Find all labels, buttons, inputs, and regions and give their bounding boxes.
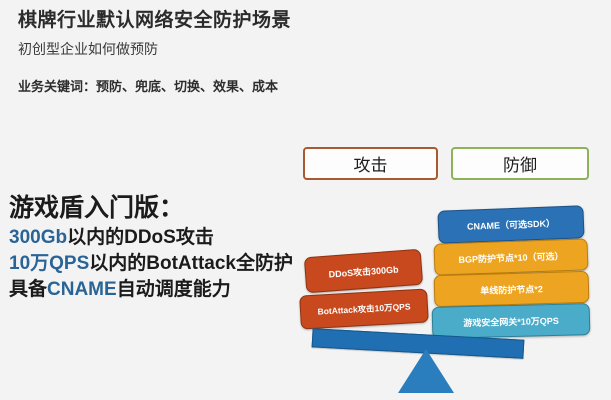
product-line-3: 具备CNAME自动调度能力 (9, 277, 309, 303)
product-line-3-metric: CNAME (47, 279, 117, 300)
header-block: 棋牌行业默认网络安全防护场景 初创型企业如何做预防 业务关键词：预防、兜底、切换… (18, 8, 448, 97)
defense-chip-bgp-node: BGP防护节点*10（可选） (433, 238, 588, 275)
defense-chip-cname: CNAME（可选SDK） (437, 205, 584, 244)
attack-chip-ddos: DDoS攻击300Gb (304, 249, 423, 293)
product-line-1-metric: 300Gb (9, 227, 67, 248)
seesaw-fulcrum-triangle (398, 349, 454, 393)
keywords-line: 业务关键词：预防、兜底、切换、效果、成本 (18, 77, 448, 97)
page-subtitle: 初创型企业如何做预防 (18, 38, 448, 60)
product-line-2-metric: 10万QPS (9, 253, 89, 274)
product-heading: 游戏盾入门版： (9, 192, 309, 225)
defense-chip-single-line-node: 单线防护节点*2 (434, 271, 590, 307)
slide-canvas: 棋牌行业默认网络安全防护场景 初创型企业如何做预防 业务关键词：预防、兜底、切换… (0, 0, 611, 400)
product-summary-block: 游戏盾入门版： 300Gb以内的DDoS攻击 10万QPS以内的BotAttac… (9, 192, 309, 303)
product-line-2-text: 以内的BotAttack全防护 (89, 253, 293, 274)
product-line-1: 300Gb以内的DDoS攻击 (9, 225, 309, 251)
balance-scale-diagram: DDoS攻击300Gb BotAttack攻击10万QPS CNAME（可选SD… (285, 195, 611, 400)
product-line-2: 10万QPS以内的BotAttack全防护 (9, 251, 309, 277)
defense-caption-box: 防御 (451, 147, 589, 180)
defense-chip-security-gateway: 游戏安全网关*10万QPS (432, 303, 591, 339)
product-line-1-text: 以内的DDoS攻击 (67, 227, 214, 248)
attack-caption-box: 攻击 (303, 147, 438, 180)
attack-chip-botattack: BotAttack攻击10万QPS (299, 288, 429, 329)
product-line-3-text: 自动调度能力 (117, 279, 231, 300)
product-line-3-prefix: 具备 (9, 279, 47, 300)
page-title: 棋牌行业默认网络安全防护场景 (18, 8, 448, 34)
